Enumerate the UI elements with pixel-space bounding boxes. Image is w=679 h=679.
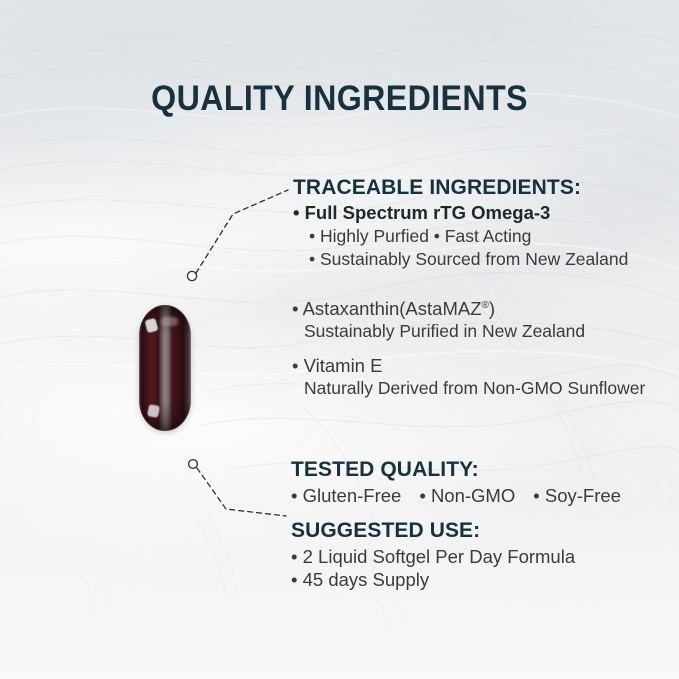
vitamin-e-bullet: • Vitamin E — [292, 355, 645, 377]
astaxanthin-label: • Astaxanthin(AstaMAZ — [292, 298, 482, 319]
tested-quality-heading: TESTED QUALITY: — [291, 458, 621, 482]
softgel-capsule — [134, 300, 196, 436]
traceable-sub-item-1: • Highly Purfied • Fast Acting — [309, 226, 628, 247]
page-title: QUALITY INGREDIENTS — [27, 79, 652, 119]
suggested-use-item: • 2 Liquid Softgel Per Day Formula — [291, 546, 575, 568]
traceable-heading: TRACEABLE INGREDIENTS: — [293, 176, 628, 200]
tested-quality-item: • Soy-Free — [533, 485, 621, 507]
suggested-use-item: • 45 days Supply — [291, 569, 575, 591]
tested-quality-item: • Gluten-Free — [291, 485, 401, 507]
vitamin-e-detail: Naturally Derived from Non-GMO Sunflower — [304, 378, 645, 399]
tested-quality-item: • Non-GMO — [419, 485, 515, 507]
section-suggested-use: SUGGESTED USE: • 2 Liquid Softgel Per Da… — [291, 519, 575, 591]
astaxanthin-label-close: ) — [489, 298, 495, 319]
registered-trademark-icon: ® — [482, 300, 489, 311]
tested-quality-items: • Gluten-Free • Non-GMO • Soy-Free — [291, 485, 621, 507]
section-tested-quality: TESTED QUALITY: • Gluten-Free • Non-GMO … — [291, 458, 621, 507]
section-astaxanthin: • Astaxanthin(AstaMAZ®) Sustainably Puri… — [292, 298, 585, 342]
astaxanthin-bullet: • Astaxanthin(AstaMAZ®) — [292, 298, 585, 320]
suggested-use-heading: SUGGESTED USE: — [291, 519, 575, 543]
traceable-sub-item-2: • Sustainably Sourced from New Zealand — [309, 249, 628, 270]
astaxanthin-detail: Sustainably Purified in New Zealand — [304, 321, 585, 342]
product-infographic: QUALITY INGREDIENTS TRACEABLE INGREDIENT… — [0, 0, 679, 679]
section-vitamin-e: • Vitamin E Naturally Derived from Non-G… — [292, 355, 645, 399]
capsule-rim — [139, 305, 191, 431]
traceable-primary-item: • Full Spectrum rTG Omega-3 — [293, 202, 628, 224]
capsule-body — [139, 305, 191, 431]
section-traceable-ingredients: TRACEABLE INGREDIENTS: • Full Spectrum r… — [293, 176, 628, 270]
